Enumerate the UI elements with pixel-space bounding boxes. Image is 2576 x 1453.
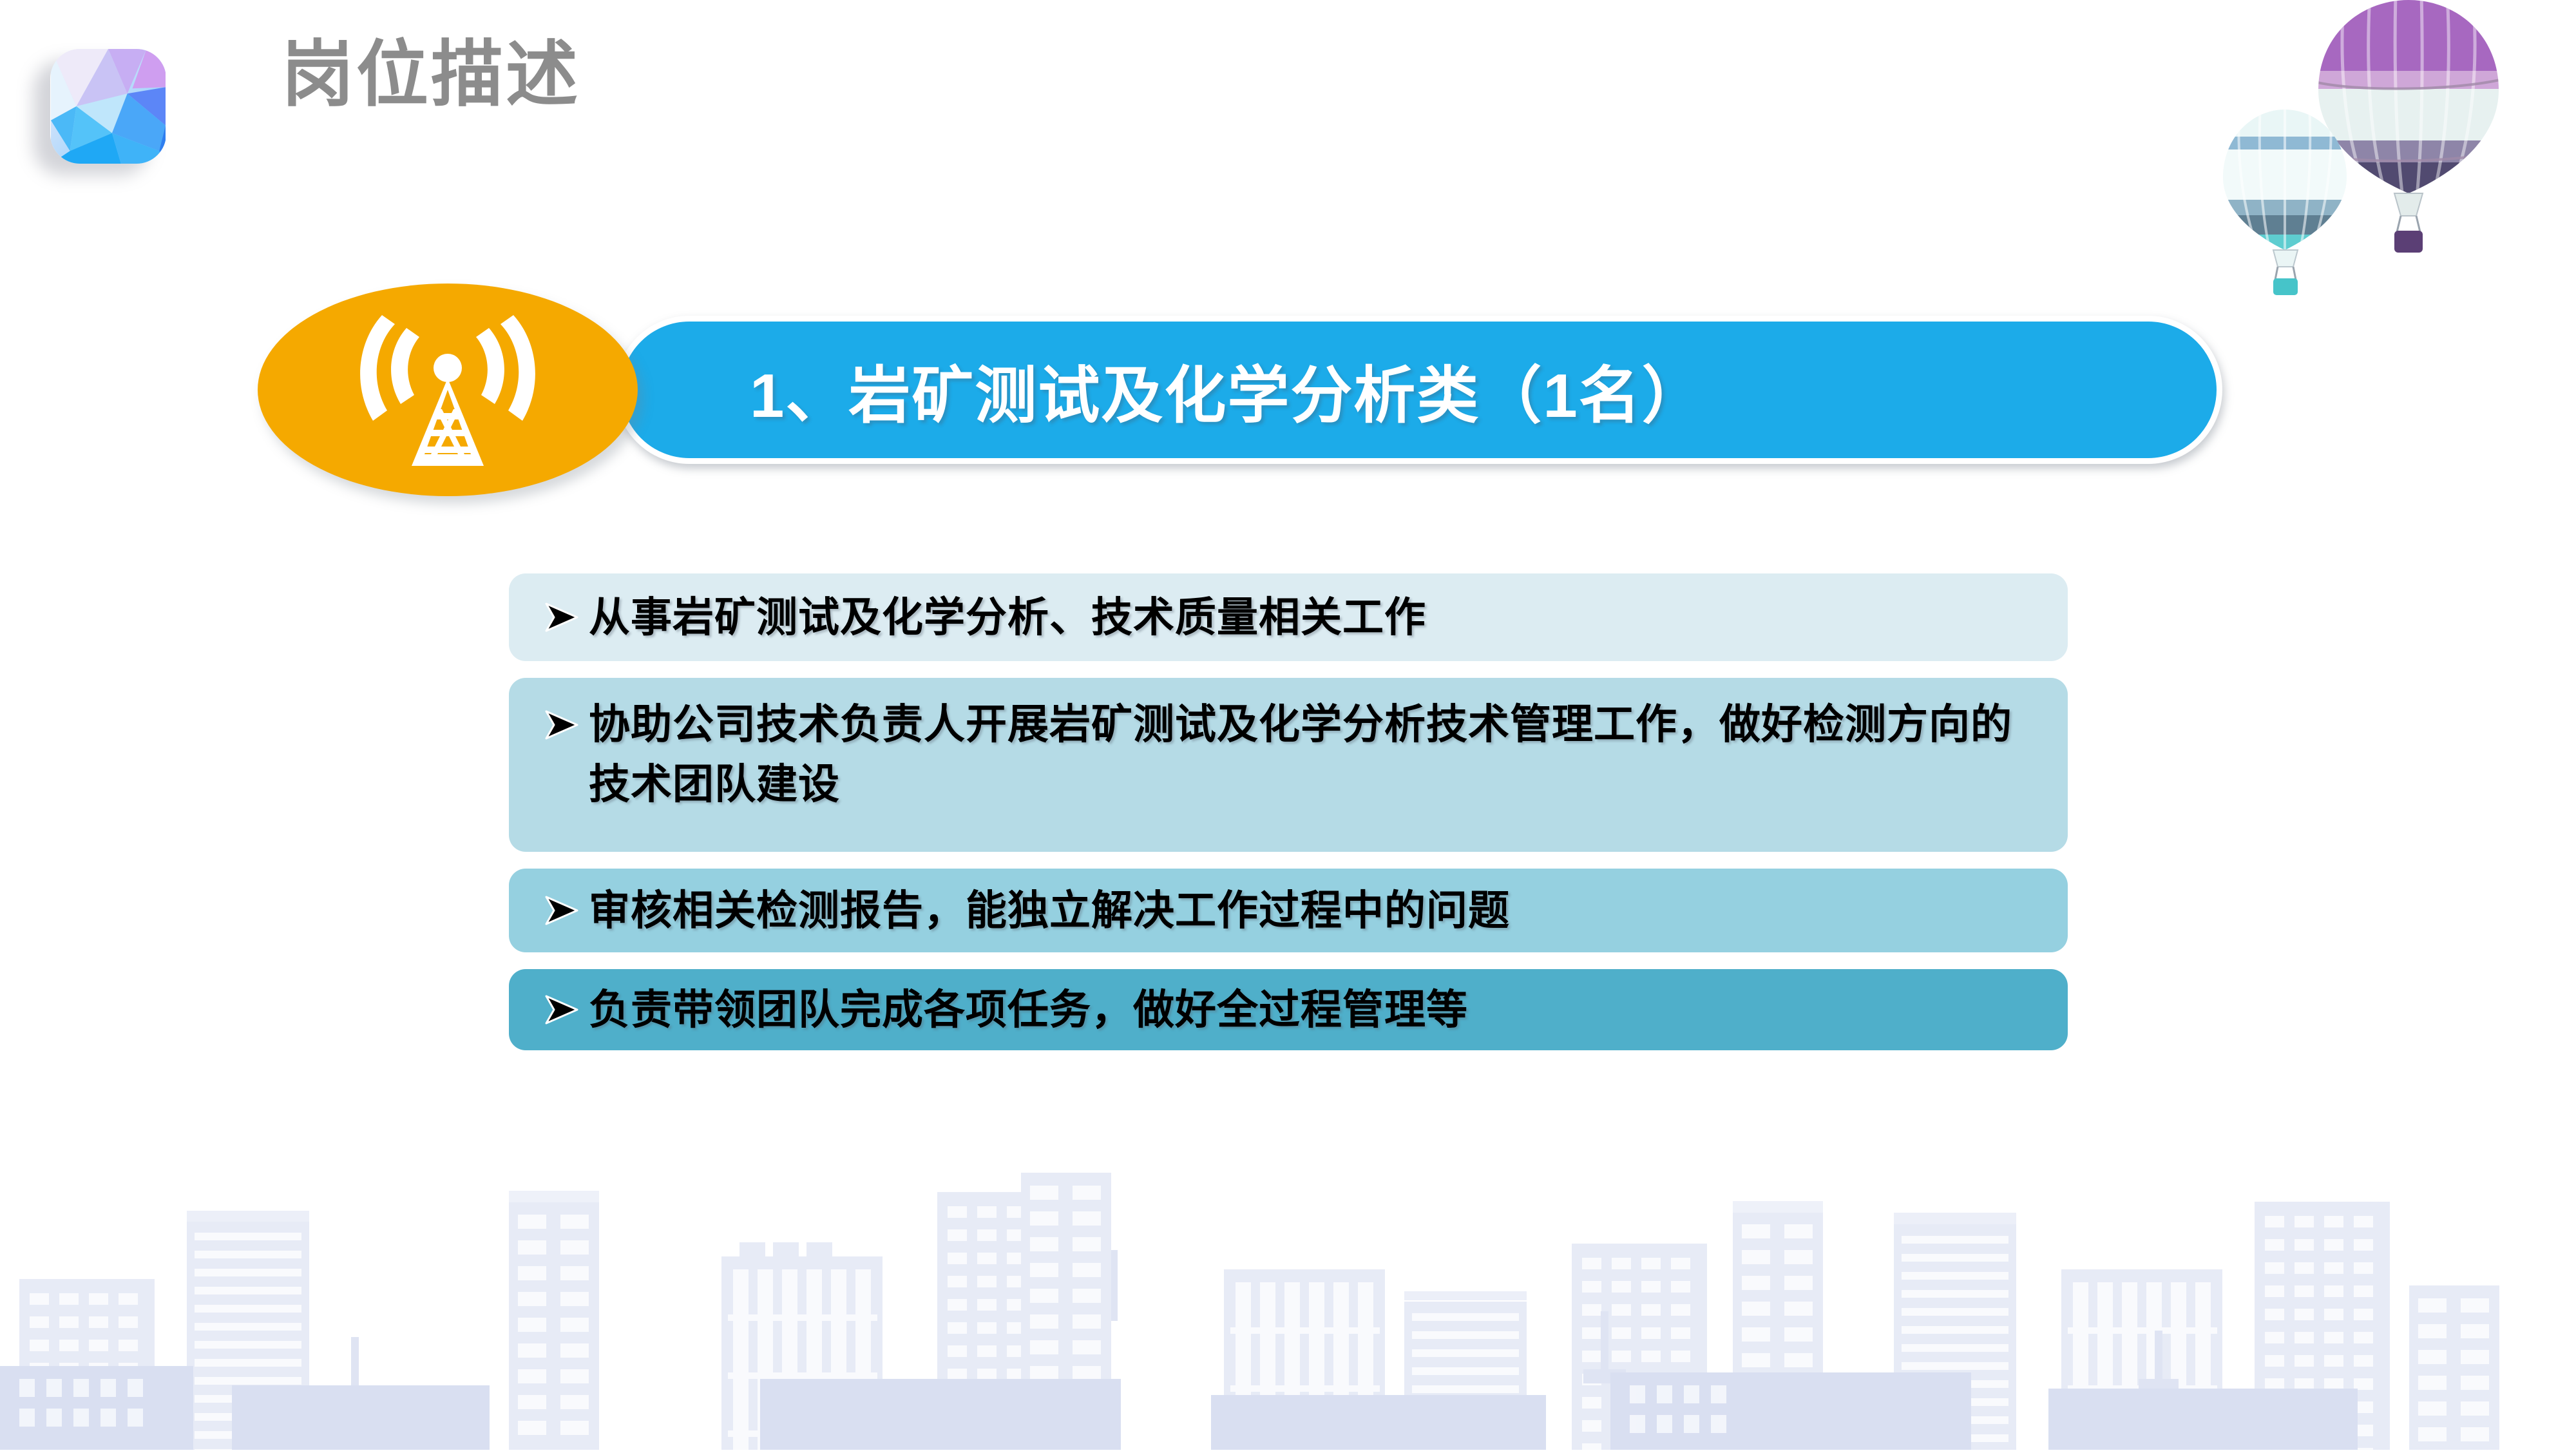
banner-badge bbox=[258, 284, 638, 496]
city-skyline-background bbox=[0, 1173, 2576, 1450]
polygon-gradient-app-icon bbox=[50, 49, 166, 164]
slide-header: 岗位描述 bbox=[0, 0, 2576, 168]
arrow-chevron-bullet-icon bbox=[541, 705, 589, 745]
list-item[interactable]: 协助公司技术负责人开展岩矿测试及化学分析技术管理工作，做好检测方向的技术团队建设 bbox=[509, 678, 2068, 852]
page-title: 岗位描述 bbox=[281, 39, 580, 111]
section-banner-bar: 1、岩矿测试及化学分析类（1名） bbox=[615, 316, 2222, 464]
list-item[interactable]: 从事岩矿测试及化学分析、技术质量相关工作 bbox=[509, 573, 2068, 661]
list-item-text: 从事岩矿测试及化学分析、技术质量相关工作 bbox=[589, 588, 2042, 648]
broadcast-tower-icon bbox=[351, 306, 544, 474]
section-banner-text: 1、岩矿测试及化学分析类（1名） bbox=[750, 345, 1705, 435]
arrow-chevron-bullet-icon bbox=[541, 597, 589, 637]
list-item[interactable]: 审核相关检测报告，能独立解决工作过程中的问题 bbox=[509, 869, 2068, 952]
job-description-list: 从事岩矿测试及化学分析、技术质量相关工作 协助公司技术负责人开展岩矿测试及化学分… bbox=[509, 573, 2068, 1067]
list-item-text: 审核相关检测报告，能独立解决工作过程中的问题 bbox=[589, 881, 2042, 941]
arrow-chevron-bullet-icon bbox=[541, 890, 589, 930]
list-item-text: 协助公司技术负责人开展岩矿测试及化学分析技术管理工作，做好检测方向的技术团队建设 bbox=[589, 695, 2042, 814]
list-item-text: 负责带领团队完成各项任务，做好全过程管理等 bbox=[589, 980, 2042, 1040]
section-banner: 1、岩矿测试及化学分析类（1名） bbox=[0, 284, 2576, 496]
list-item[interactable]: 负责带领团队完成各项任务，做好全过程管理等 bbox=[509, 969, 2068, 1050]
arrow-chevron-bullet-icon bbox=[541, 990, 589, 1030]
